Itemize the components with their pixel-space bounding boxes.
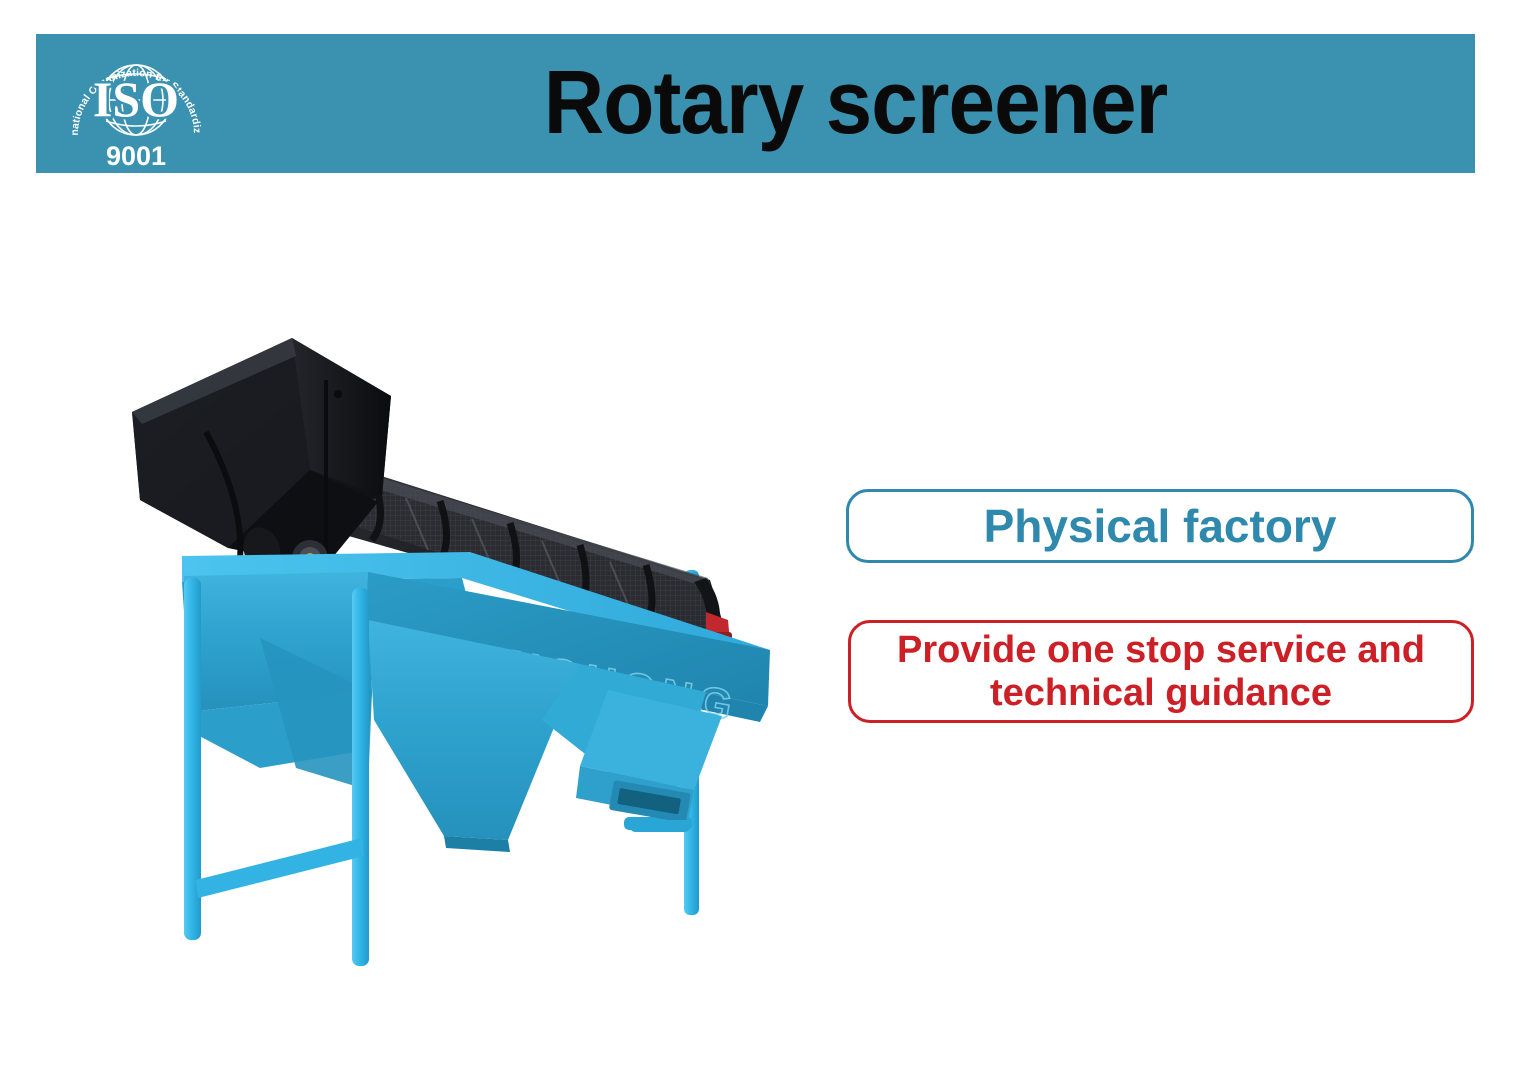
- iso-wordmark: ISO: [93, 71, 179, 127]
- callout-one-stop-service: Provide one stop service and technical g…: [848, 620, 1474, 723]
- blue-frame-body-left: [184, 572, 372, 790]
- callout-service-line1: Provide one stop service and: [897, 629, 1425, 671]
- poster-canvas: International Organization for Standardi…: [0, 0, 1514, 1080]
- callout-service-line2: technical guidance: [990, 672, 1332, 714]
- callout-physical-factory: Physical factory: [846, 489, 1474, 563]
- header-banner: International Organization for Standardi…: [36, 34, 1475, 173]
- iso-standard-number: 9001: [106, 141, 166, 171]
- callout-one-stop-service-text: Provide one stop service and technical g…: [897, 629, 1425, 714]
- page-title: Rotary screener: [279, 34, 1431, 173]
- callout-physical-factory-label: Physical factory: [984, 499, 1337, 553]
- product-photo-rotary-screener: SHENGHONG 晟弘重工: [110, 320, 790, 980]
- iso-9001-logo: International Organization for Standardi…: [56, 38, 216, 172]
